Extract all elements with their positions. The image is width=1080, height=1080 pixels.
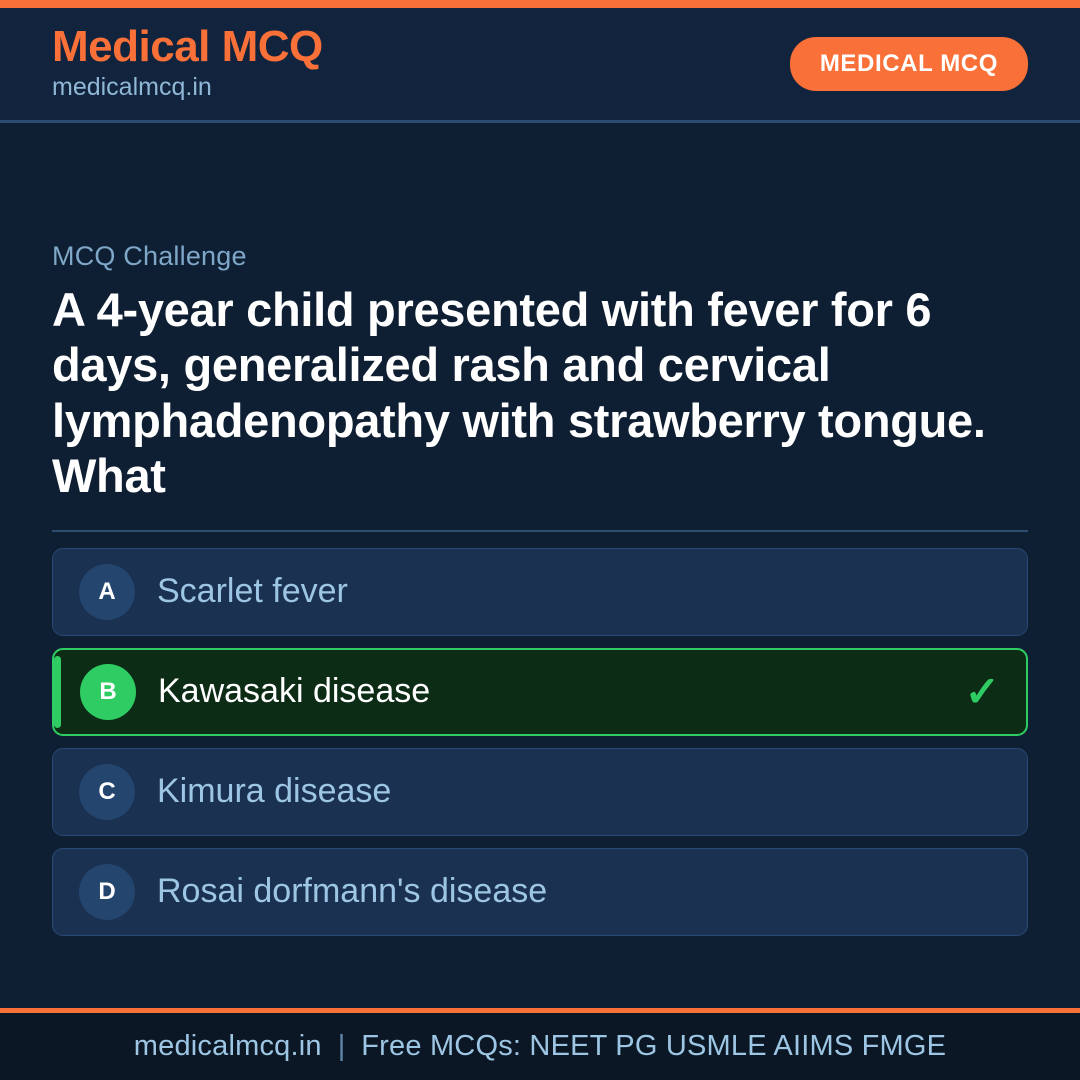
options-list: A Scarlet fever ✓ B Kawasaki disease ✓ C…: [52, 548, 1028, 936]
mcq-card: Medical MCQ medicalmcq.in MEDICAL MCQ MC…: [0, 0, 1080, 1080]
option-d-label: Rosai dorfmann's disease: [157, 873, 547, 910]
brand-website: medicalmcq.in: [52, 72, 323, 103]
footer-separator: |: [322, 1030, 362, 1063]
question-text: A 4-year child presented with fever for …: [52, 282, 1028, 504]
footer: medicalmcq.in | Free MCQs: NEET PG USMLE…: [0, 1013, 1080, 1080]
check-icon: ✓: [965, 671, 1000, 713]
footer-exams: Free MCQs: NEET PG USMLE AIIMS FMGE: [361, 1030, 946, 1063]
question-body: MCQ Challenge A 4-year child presented w…: [0, 123, 1080, 1008]
option-b[interactable]: B Kawasaki disease ✓: [52, 648, 1028, 736]
option-c[interactable]: C Kimura disease ✓: [52, 748, 1028, 836]
top-accent-bar: [0, 0, 1080, 8]
option-c-label: Kimura disease: [157, 773, 391, 810]
footer-wrap: medicalmcq.in | Free MCQs: NEET PG USMLE…: [0, 1008, 1080, 1080]
option-a[interactable]: A Scarlet fever ✓: [52, 548, 1028, 636]
option-a-label: Scarlet fever: [157, 573, 348, 610]
footer-website: medicalmcq.in: [134, 1030, 322, 1063]
kicker-label: MCQ Challenge: [52, 241, 1028, 272]
option-c-badge: C: [79, 764, 135, 820]
option-d[interactable]: D Rosai dorfmann's disease ✓: [52, 848, 1028, 936]
header: Medical MCQ medicalmcq.in MEDICAL MCQ: [0, 8, 1080, 123]
question-divider: [52, 530, 1028, 532]
brand-title: Medical MCQ: [52, 25, 323, 70]
option-a-badge: A: [79, 564, 135, 620]
option-b-label: Kawasaki disease: [158, 673, 430, 710]
header-badge: MEDICAL MCQ: [790, 37, 1028, 91]
option-d-badge: D: [79, 864, 135, 920]
brand-block: Medical MCQ medicalmcq.in: [52, 25, 323, 103]
option-b-badge: B: [80, 664, 136, 720]
